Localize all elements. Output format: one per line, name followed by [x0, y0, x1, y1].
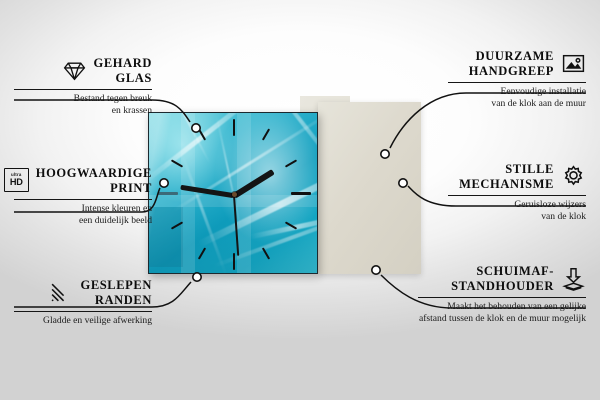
leader-dot-geslepen-randen	[193, 273, 201, 281]
callout-rule	[448, 195, 586, 196]
callout-duurzame-handgreep: DUURZAME HANDGREEP Eenvoudige installati…	[448, 49, 586, 111]
callout-title: SCHUIMAF- STANDHOUDER	[451, 264, 554, 294]
leader-dot-duurzame-handgreep	[381, 150, 389, 158]
ultra-hd-icon: ultra HD	[4, 168, 29, 193]
callout-rule	[448, 82, 586, 83]
callout-hoogwaardige-print: ultra HD HOOGWAARDIGE PRINT Intense kleu…	[14, 166, 152, 228]
callout-description: Intense kleuren en een duidelijk beeld	[14, 203, 152, 228]
picture-frame-icon	[561, 51, 586, 76]
callout-description: Eenvoudige installatie van de klok aan d…	[448, 86, 586, 111]
gear-icon	[561, 164, 586, 189]
callout-rule	[14, 199, 152, 200]
callout-schuimaf-standhouder: SCHUIMAF- STANDHOUDER Maakt het behouden…	[418, 264, 586, 326]
callout-title: DUURZAME HANDGREEP	[469, 49, 554, 79]
leader-dot-schuimaf-standhouder	[372, 266, 380, 274]
callout-description: Bestand tegen breuk en krassen	[14, 93, 152, 118]
callout-rule	[14, 311, 152, 312]
beveled-edges-icon	[49, 280, 74, 305]
leader-dot-gehard-glas	[192, 124, 200, 132]
callout-title: HOOGWAARDIGE PRINT	[36, 166, 152, 196]
leader-dot-stille-mechanisme	[399, 179, 407, 187]
callout-stille-mechanisme: STILLE MECHANISME Geruisloze wijzers van…	[448, 162, 586, 224]
callout-title: STILLE MECHANISME	[459, 162, 554, 192]
callout-gehard-glas: GEHARD GLAS Bestand tegen breuk en krass…	[14, 56, 152, 118]
callout-title: GEHARD GLAS	[94, 56, 152, 86]
callout-geslepen-randen: GESLEPEN RANDEN Gladde en veilige afwerk…	[14, 278, 152, 327]
callout-rule	[14, 89, 152, 90]
callout-description: Gladde en veilige afwerking	[14, 315, 152, 328]
callout-title: GESLEPEN RANDEN	[81, 278, 153, 308]
callout-description: Geruisloze wijzers van de klok	[448, 199, 586, 224]
leader-dot-hoogwaardige-print	[160, 179, 168, 187]
foam-spacer-icon	[561, 266, 586, 291]
ultra-hd-icon-main-text: HD	[10, 178, 23, 187]
infographic-canvas: GEHARD GLAS Bestand tegen breuk en krass…	[0, 0, 600, 400]
diamond-icon	[62, 58, 87, 83]
callout-rule	[418, 297, 586, 298]
callout-description: Maakt het behouden van een gelijke afsta…	[418, 301, 586, 326]
